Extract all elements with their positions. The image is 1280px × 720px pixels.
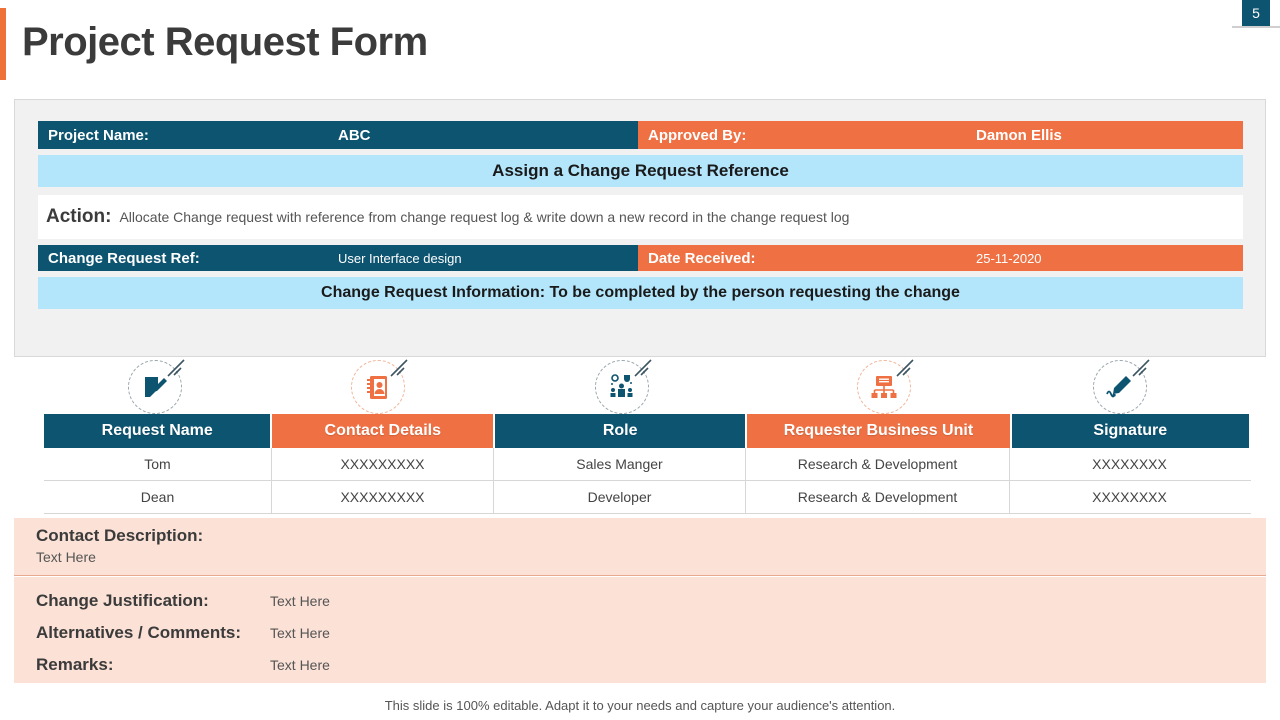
table-row[interactable]: TomXXXXXXXXXSales MangerResearch & Devel… <box>44 448 1251 481</box>
contact-description-label: Contact Description: <box>36 526 1266 546</box>
bottom-field-label: Alternatives / Comments: <box>36 623 270 643</box>
document-pencil-icon <box>128 360 184 416</box>
bottom-field-row: Change Justification:Text Here <box>14 585 1266 617</box>
change-request-information-banner: Change Request Information: To be comple… <box>38 277 1243 309</box>
table-cell: Research & Development <box>746 481 1010 513</box>
table-row[interactable]: DeanXXXXXXXXXDeveloperResearch & Develop… <box>44 481 1251 514</box>
table-header-signature[interactable]: Signature <box>1012 414 1249 448</box>
slash-decoration-icon <box>1129 358 1151 380</box>
slash-decoration-icon <box>631 358 653 380</box>
table-cell: Research & Development <box>746 448 1010 480</box>
table-header-role[interactable]: Role <box>495 414 745 448</box>
page-number-badge: 5 <box>1242 0 1270 26</box>
change-request-ref-value: User Interface design <box>328 245 638 271</box>
action-text: Allocate Change request with reference f… <box>119 209 849 225</box>
table-cell: Dean <box>44 481 272 513</box>
people-role-icon <box>595 360 651 416</box>
table-header-requester-business-unit[interactable]: Requester Business Unit <box>747 414 1009 448</box>
column-icons-row <box>44 360 1251 416</box>
table-cell: XXXXXXXXX <box>272 448 494 480</box>
table-body: TomXXXXXXXXXSales MangerResearch & Devel… <box>44 448 1251 514</box>
title-accent-bar <box>0 8 6 80</box>
bottom-field-value[interactable]: Text Here <box>270 625 330 641</box>
approved-by-label: Approved By: <box>638 121 966 149</box>
assign-change-request-banner: Assign a Change Request Reference <box>38 155 1243 187</box>
table-cell: XXXXXXXXX <box>272 481 494 513</box>
slash-decoration-icon <box>893 358 915 380</box>
table-header-row: Request NameContact DetailsRoleRequester… <box>44 414 1251 448</box>
date-received-value: 25-11-2020 <box>966 245 1243 271</box>
page-title: Project Request Form <box>22 20 428 65</box>
bottom-field-value[interactable]: Text Here <box>270 657 330 673</box>
table-cell: Tom <box>44 448 272 480</box>
table-cell: Developer <box>494 481 746 513</box>
footer-note: This slide is 100% editable. Adapt it to… <box>0 698 1280 713</box>
project-name-value: ABC <box>328 121 638 149</box>
bottom-field-row: Alternatives / Comments:Text Here <box>14 617 1266 649</box>
table-header-contact-details[interactable]: Contact Details <box>272 414 493 448</box>
bottom-field-value[interactable]: Text Here <box>270 593 330 609</box>
table-cell: XXXXXXXX <box>1010 481 1249 513</box>
bottom-fields-section: Change Justification:Text HereAlternativ… <box>14 577 1266 683</box>
project-name-label: Project Name: <box>38 121 328 149</box>
slash-decoration-icon <box>164 358 186 380</box>
contact-description-section: Contact Description: Text Here <box>14 518 1266 576</box>
slash-decoration-icon <box>387 358 409 380</box>
approved-by-value: Damon Ellis <box>966 121 1243 149</box>
contact-book-icon <box>351 360 407 416</box>
requesters-table: Request NameContact DetailsRoleRequester… <box>44 414 1251 514</box>
org-chart-icon <box>857 360 913 416</box>
contact-description-value[interactable]: Text Here <box>36 549 1266 565</box>
bottom-field-label: Change Justification: <box>36 591 270 611</box>
date-received-label: Date Received: <box>638 245 966 271</box>
signature-pen-icon <box>1093 360 1149 416</box>
table-cell: Sales Manger <box>494 448 746 480</box>
table-header-request-name[interactable]: Request Name <box>44 414 270 448</box>
table-cell: XXXXXXXX <box>1010 448 1249 480</box>
action-row: Action: Allocate Change request with ref… <box>38 195 1243 239</box>
badge-underline <box>1232 26 1280 28</box>
bottom-field-label: Remarks: <box>36 655 270 675</box>
change-request-ref-label: Change Request Ref: <box>38 245 328 271</box>
action-label: Action: <box>46 206 111 228</box>
bottom-field-row: Remarks:Text Here <box>14 649 1266 681</box>
